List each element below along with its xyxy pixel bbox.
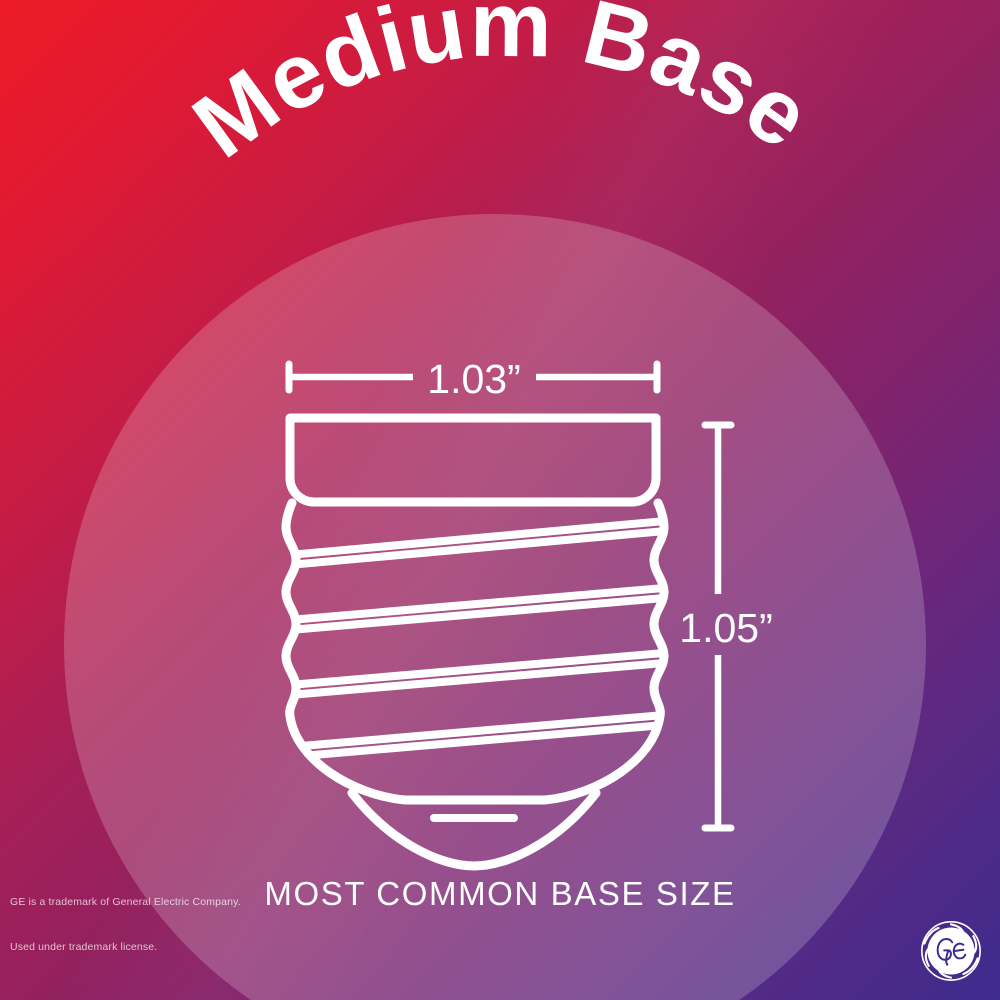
page-title: Medium Base (175, 0, 829, 177)
legal-notice: GE is a trademark of General Electric Co… (10, 864, 241, 986)
legal-line-1: GE is a trademark of General Electric Co… (10, 895, 241, 910)
dimension-height-label: 1.05” (679, 605, 772, 651)
dimension-height: 1.05” (679, 425, 772, 828)
legal-line-2: Used under trademark license. (10, 940, 241, 955)
bulb-base-thread-lines (278, 520, 676, 758)
dimension-width: 1.03” (289, 356, 657, 402)
page-title-text: Medium Base (175, 0, 829, 177)
dimension-width-label: 1.03” (427, 356, 520, 402)
product-infographic: Medium Base 1.03” 1.05” (0, 0, 1000, 1000)
diagram-canvas: Medium Base 1.03” 1.05” (0, 0, 1000, 1000)
caption-text: MOST COMMON BASE SIZE (264, 875, 735, 912)
bulb-base-collar (290, 418, 656, 502)
bulb-base-icon (278, 418, 676, 866)
ge-monogram-icon (920, 920, 982, 982)
